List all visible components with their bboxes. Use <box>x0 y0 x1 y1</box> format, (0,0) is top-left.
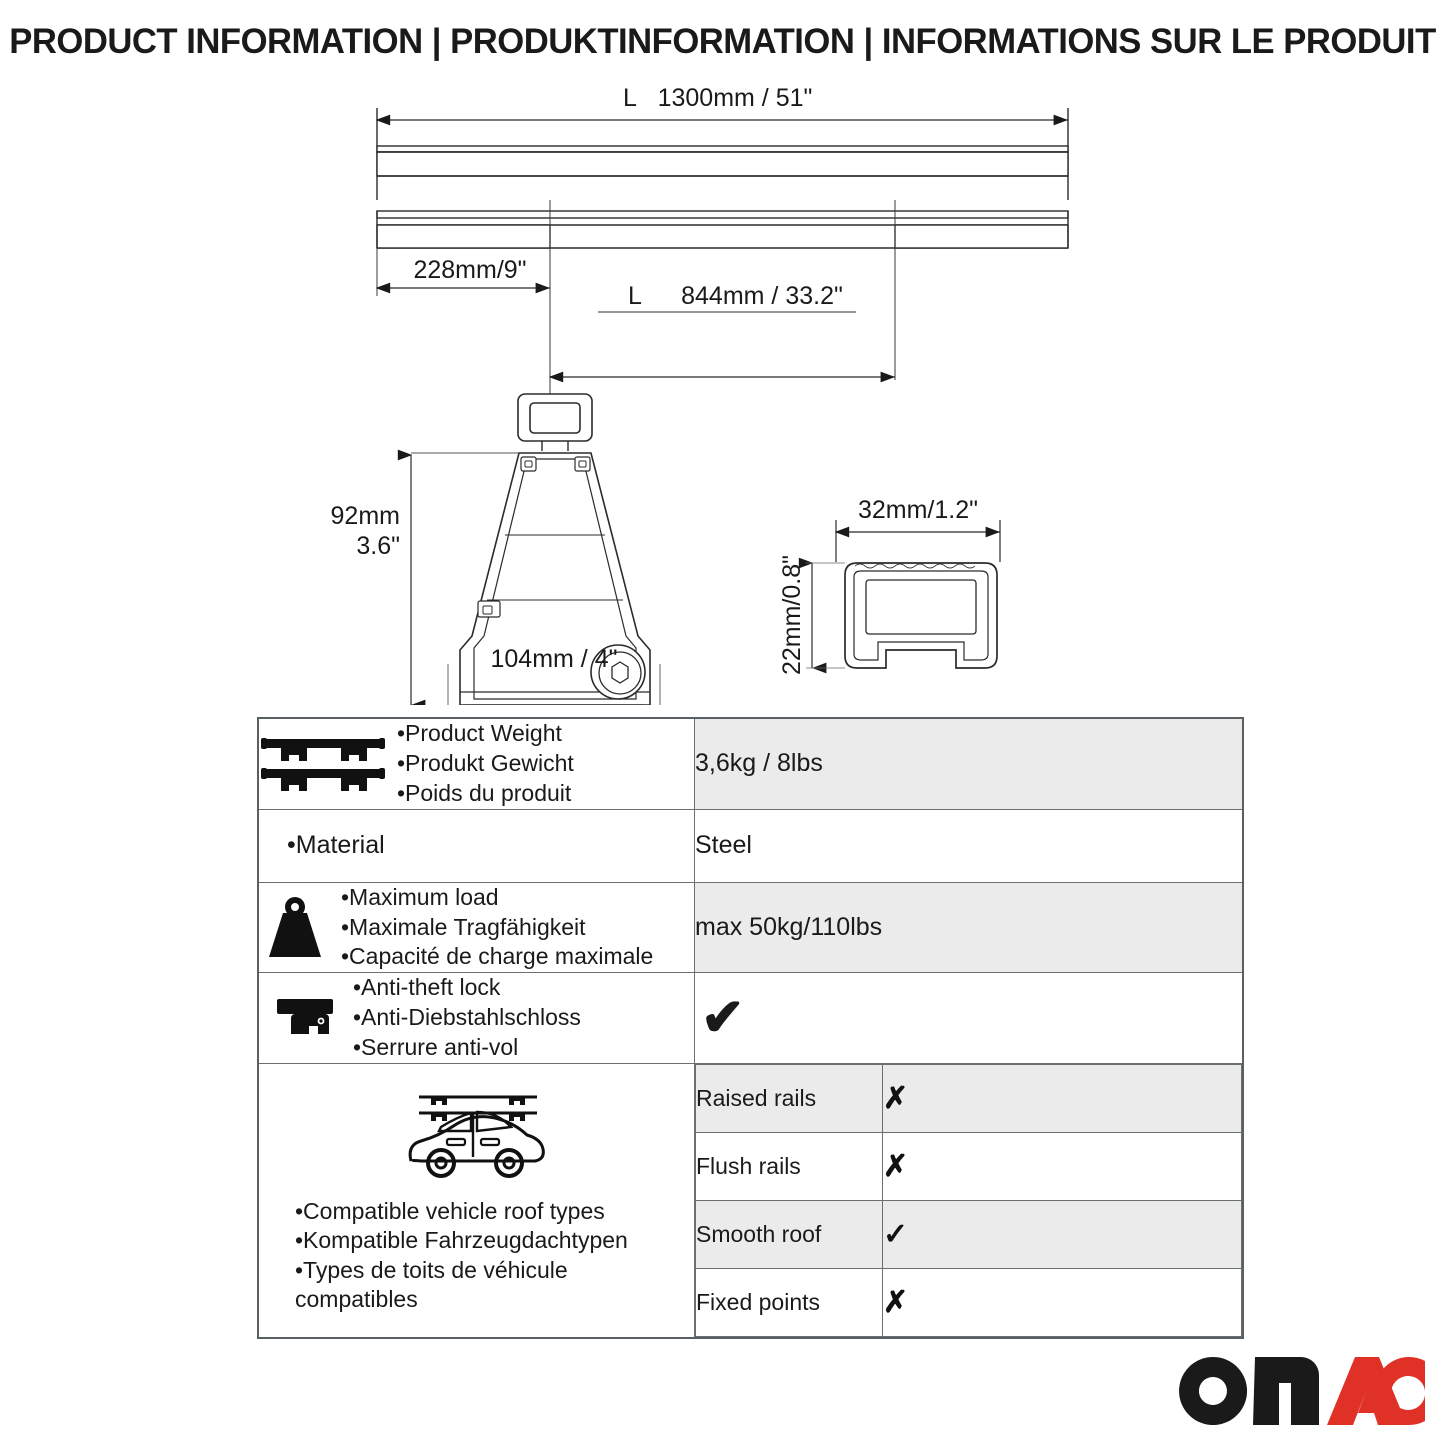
lock-label-cell: •Anti-theft lock •Anti-Diebstahlschloss … <box>258 973 695 1064</box>
material-value: Steel <box>695 809 1244 882</box>
svg-text:32mm/1.2": 32mm/1.2" <box>858 496 978 524</box>
specification-table: •Product Weight •Produkt Gewicht •Poids … <box>257 717 1244 1339</box>
label-fr: •Poids du produit <box>397 779 574 809</box>
label-en: •Product Weight <box>397 719 574 749</box>
omac-logo <box>1177 1355 1427 1429</box>
table-row: •Material Steel <box>258 809 1243 882</box>
svg-text:3.6": 3.6" <box>356 532 400 560</box>
roof-type-name: Fixed points <box>696 1269 883 1337</box>
label-fr: •Serrure anti-vol <box>353 1033 581 1063</box>
svg-text:1300mm / 51": 1300mm / 51" <box>658 84 813 112</box>
roof-type-mark: ✗ <box>883 1133 1242 1201</box>
svg-text:92mm: 92mm <box>331 502 400 530</box>
roof-types-cell: Raised rails ✗ Flush rails ✗ Smooth roof… <box>695 1064 1244 1339</box>
label-de: •Maximale Tragfähigkeit <box>341 913 653 943</box>
table-row: •Compatible vehicle roof types •Kompatib… <box>258 1064 1243 1339</box>
roof-type-mark: ✗ <box>883 1065 1242 1133</box>
svg-text:L: L <box>628 282 642 310</box>
cross-icon: ✗ <box>883 1082 908 1115</box>
check-icon: ✔ <box>695 995 745 1042</box>
cross-icon: ✗ <box>883 1286 908 1319</box>
label-en: •Anti-theft lock <box>353 973 581 1003</box>
table-row: •Anti-theft lock •Anti-Diebstahlschloss … <box>258 973 1243 1064</box>
svg-text:22mm/0.8": 22mm/0.8" <box>778 555 806 675</box>
check-icon: ✓ <box>883 1218 908 1251</box>
label-en: •Compatible vehicle roof types <box>295 1197 628 1226</box>
roof-type-name: Flush rails <box>696 1133 883 1201</box>
compatibility-label-cell: •Compatible vehicle roof types •Kompatib… <box>258 1064 695 1339</box>
page-title: PRODUCT INFORMATION | PRODUKTINFORMATION… <box>7 22 1438 62</box>
max-load-labels: •Maximum load •Maximale Tragfähigkeit •C… <box>341 883 653 973</box>
lock-labels: •Anti-theft lock •Anti-Diebstahlschloss … <box>353 973 581 1063</box>
material-label-cell: •Material <box>258 809 695 882</box>
technical-drawing: L 1300mm / 51" 228mm/9" L 844mm / 33.2" … <box>0 80 1445 705</box>
label-fr: •Capacité de charge maximale <box>341 942 653 972</box>
label-fr-cont: compatibles <box>295 1285 628 1314</box>
svg-text:104mm / 4": 104mm / 4" <box>491 645 618 673</box>
car-with-roof-rack-icon <box>397 1083 557 1183</box>
label-fr: •Types de toits de véhicule <box>295 1256 628 1285</box>
label-de: •Anti-Diebstahlschloss <box>353 1003 581 1033</box>
weight-value: 3,6kg / 8lbs <box>695 718 1244 809</box>
roof-type-row: Fixed points ✗ <box>696 1269 1242 1337</box>
roof-type-name: Raised rails <box>696 1065 883 1133</box>
max-load-label-cell: •Maximum load •Maximale Tragfähigkeit •C… <box>258 882 695 973</box>
roof-type-row: Smooth roof ✓ <box>696 1201 1242 1269</box>
label-de: •Kompatible Fahrzeugdachtypen <box>295 1226 628 1255</box>
weight-labels: •Product Weight •Produkt Gewicht •Poids … <box>397 719 574 809</box>
two-crossbars-icon <box>259 733 387 795</box>
material-label: •Material <box>259 831 694 860</box>
table-row: •Maximum load •Maximale Tragfähigkeit •C… <box>258 882 1243 973</box>
roof-type-row: Flush rails ✗ <box>696 1133 1242 1201</box>
weight-icon <box>259 895 331 961</box>
lock-value-cell: ✔ <box>695 973 1244 1064</box>
roof-type-row: Raised rails ✗ <box>696 1065 1242 1133</box>
compatibility-labels: •Compatible vehicle roof types •Kompatib… <box>259 1197 628 1315</box>
roof-types-table: Raised rails ✗ Flush rails ✗ Smooth roof… <box>695 1064 1242 1337</box>
label-de: •Produkt Gewicht <box>397 749 574 779</box>
max-load-value: max 50kg/110lbs <box>695 882 1244 973</box>
label-en: •Maximum load <box>341 883 653 913</box>
weight-label-cell: •Product Weight •Produkt Gewicht •Poids … <box>258 718 695 809</box>
lock-icon <box>273 994 343 1042</box>
roof-type-mark: ✓ <box>883 1201 1242 1269</box>
svg-text:228mm/9": 228mm/9" <box>413 256 526 284</box>
svg-text:L: L <box>623 84 637 112</box>
table-row: •Product Weight •Produkt Gewicht •Poids … <box>258 718 1243 809</box>
svg-text:844mm / 33.2": 844mm / 33.2" <box>681 282 843 310</box>
roof-type-mark: ✗ <box>883 1269 1242 1337</box>
roof-type-name: Smooth roof <box>696 1201 883 1269</box>
cross-icon: ✗ <box>883 1150 908 1183</box>
